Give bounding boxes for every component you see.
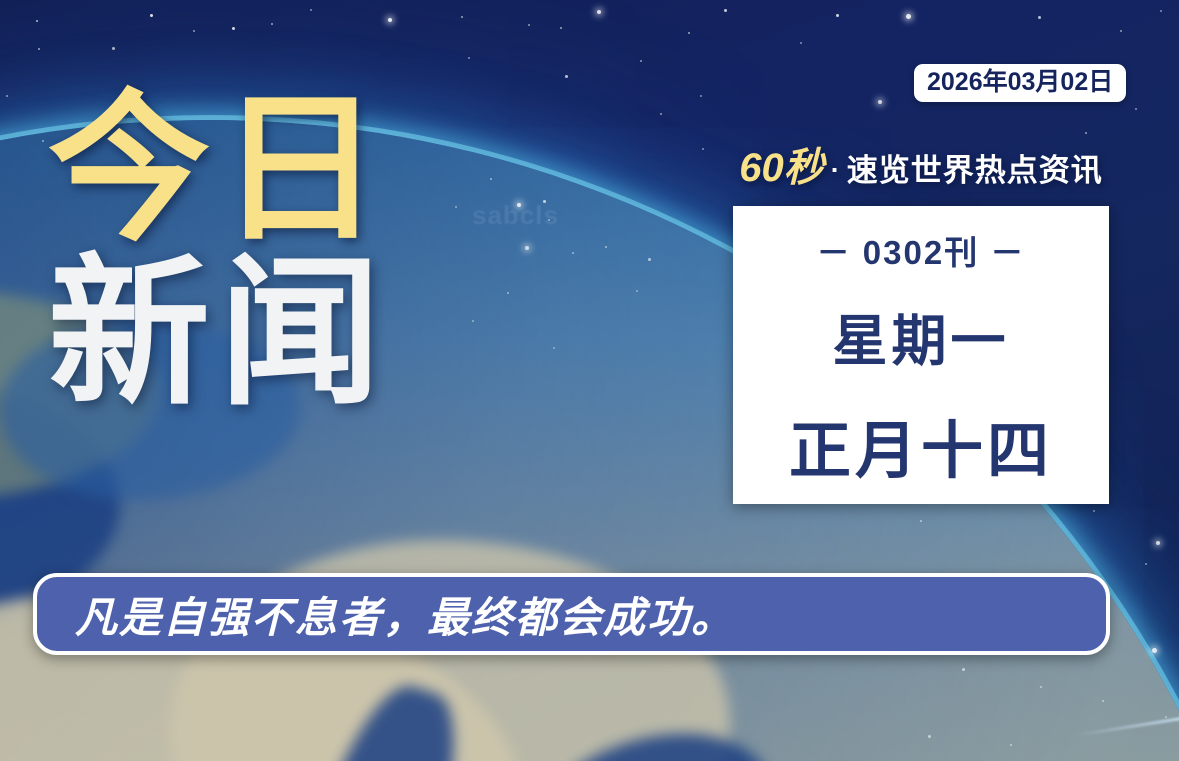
quote-text: 凡是自强不息者，最终都会成功。 — [37, 584, 735, 645]
star — [800, 42, 802, 44]
star — [1145, 563, 1147, 565]
star — [472, 320, 474, 322]
star — [836, 14, 839, 17]
star — [565, 75, 568, 78]
weekday-label: 星期一 — [832, 296, 1009, 376]
star — [1156, 541, 1160, 545]
star — [1093, 510, 1095, 512]
star — [1040, 686, 1042, 688]
star — [560, 27, 562, 29]
star — [688, 32, 690, 34]
star — [640, 60, 642, 62]
star — [36, 20, 38, 22]
star — [660, 113, 662, 115]
star — [528, 24, 530, 26]
tagline-text: 速览世界热点资讯 — [847, 145, 1103, 190]
star — [507, 292, 509, 294]
star — [1120, 30, 1122, 32]
star — [1160, 10, 1162, 12]
star — [702, 148, 704, 150]
star — [150, 14, 153, 17]
star — [6, 95, 8, 97]
star — [112, 47, 115, 50]
star — [553, 347, 555, 349]
star — [232, 27, 235, 30]
right-column: 60秒 · 速览世界热点资讯 － 0302刊 － 星期一 正月十四 — [733, 135, 1109, 504]
star — [461, 16, 463, 18]
star — [878, 100, 882, 104]
star — [1038, 16, 1041, 19]
star — [572, 252, 574, 254]
star — [1165, 716, 1167, 718]
title-today: 今日 — [48, 92, 390, 248]
news-poster: sabcls 2026年03月02日 今日 新闻 60秒 · 速览世界热点资讯 … — [0, 0, 1179, 761]
tagline-duration: 60秒 — [739, 135, 824, 193]
star — [525, 246, 529, 250]
title-news: 新闻 — [48, 256, 390, 412]
info-card: － 0302刊 － 星期一 正月十四 — [733, 206, 1109, 504]
star — [928, 735, 931, 738]
star — [271, 23, 273, 25]
star — [597, 10, 601, 14]
star — [38, 48, 40, 50]
star — [193, 30, 195, 32]
star — [724, 9, 727, 12]
star — [1152, 648, 1157, 653]
star — [388, 18, 392, 22]
star — [1085, 132, 1087, 134]
issue-number: － 0302刊 － — [817, 226, 1026, 274]
quote-bar: 凡是自强不息者，最终都会成功。 — [33, 573, 1110, 655]
date-badge: 2026年03月02日 — [914, 64, 1126, 102]
star — [1010, 744, 1012, 746]
star — [962, 668, 965, 671]
star — [42, 140, 44, 142]
star — [920, 520, 922, 522]
star — [1102, 700, 1104, 702]
lunar-date: 正月十四 — [789, 400, 1053, 490]
star — [906, 14, 911, 19]
star — [1135, 108, 1137, 110]
tagline: 60秒 · 速览世界热点资讯 — [733, 135, 1109, 193]
poster-title: 今日 新闻 — [48, 92, 390, 411]
watermark-text: sabcls — [472, 200, 559, 231]
star — [468, 57, 470, 59]
star — [310, 9, 312, 11]
star — [648, 258, 651, 261]
star — [636, 290, 638, 292]
star — [490, 178, 492, 180]
star — [700, 95, 702, 97]
star — [455, 206, 457, 208]
star — [605, 246, 607, 248]
tagline-separator: · — [824, 155, 847, 186]
